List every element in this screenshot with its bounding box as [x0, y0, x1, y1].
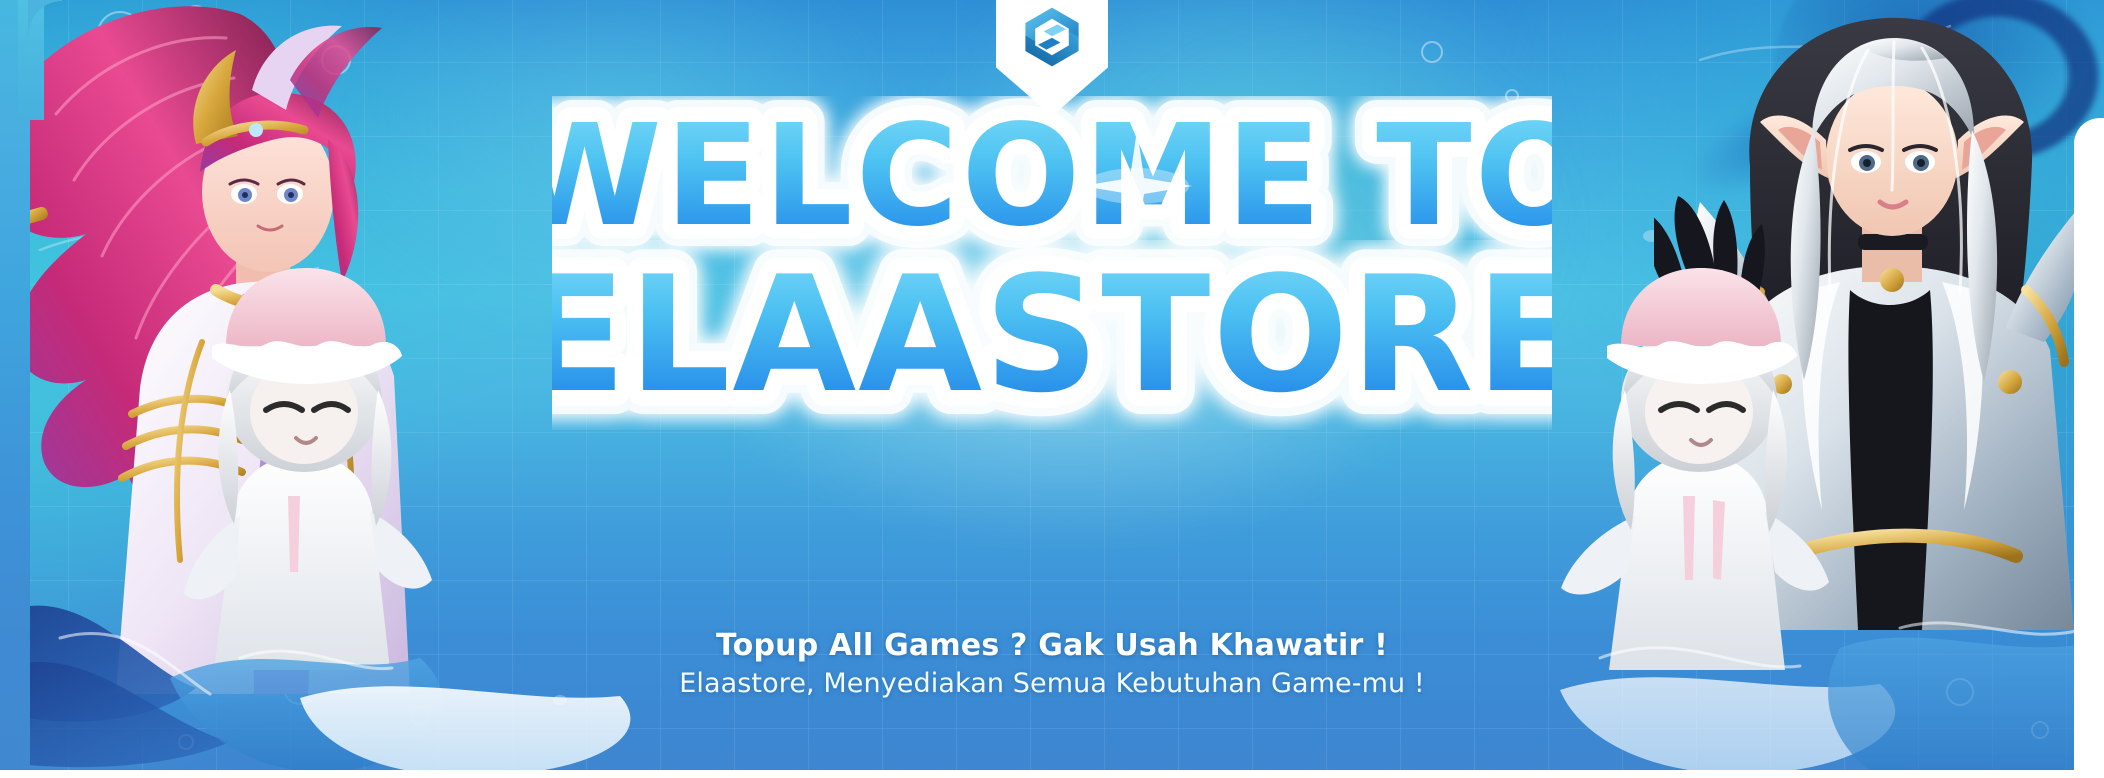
bottom-white-strip	[0, 770, 2104, 778]
right-edge-white-panel	[2074, 118, 2104, 778]
elaastore-hexagon-monogram-icon	[1017, 2, 1087, 72]
top-left-rounded-corner	[28, 0, 62, 34]
left-edge-strip	[0, 0, 30, 778]
hero-banner: WELCOME TO WELCOME TO WELCOME TO	[0, 0, 2104, 778]
